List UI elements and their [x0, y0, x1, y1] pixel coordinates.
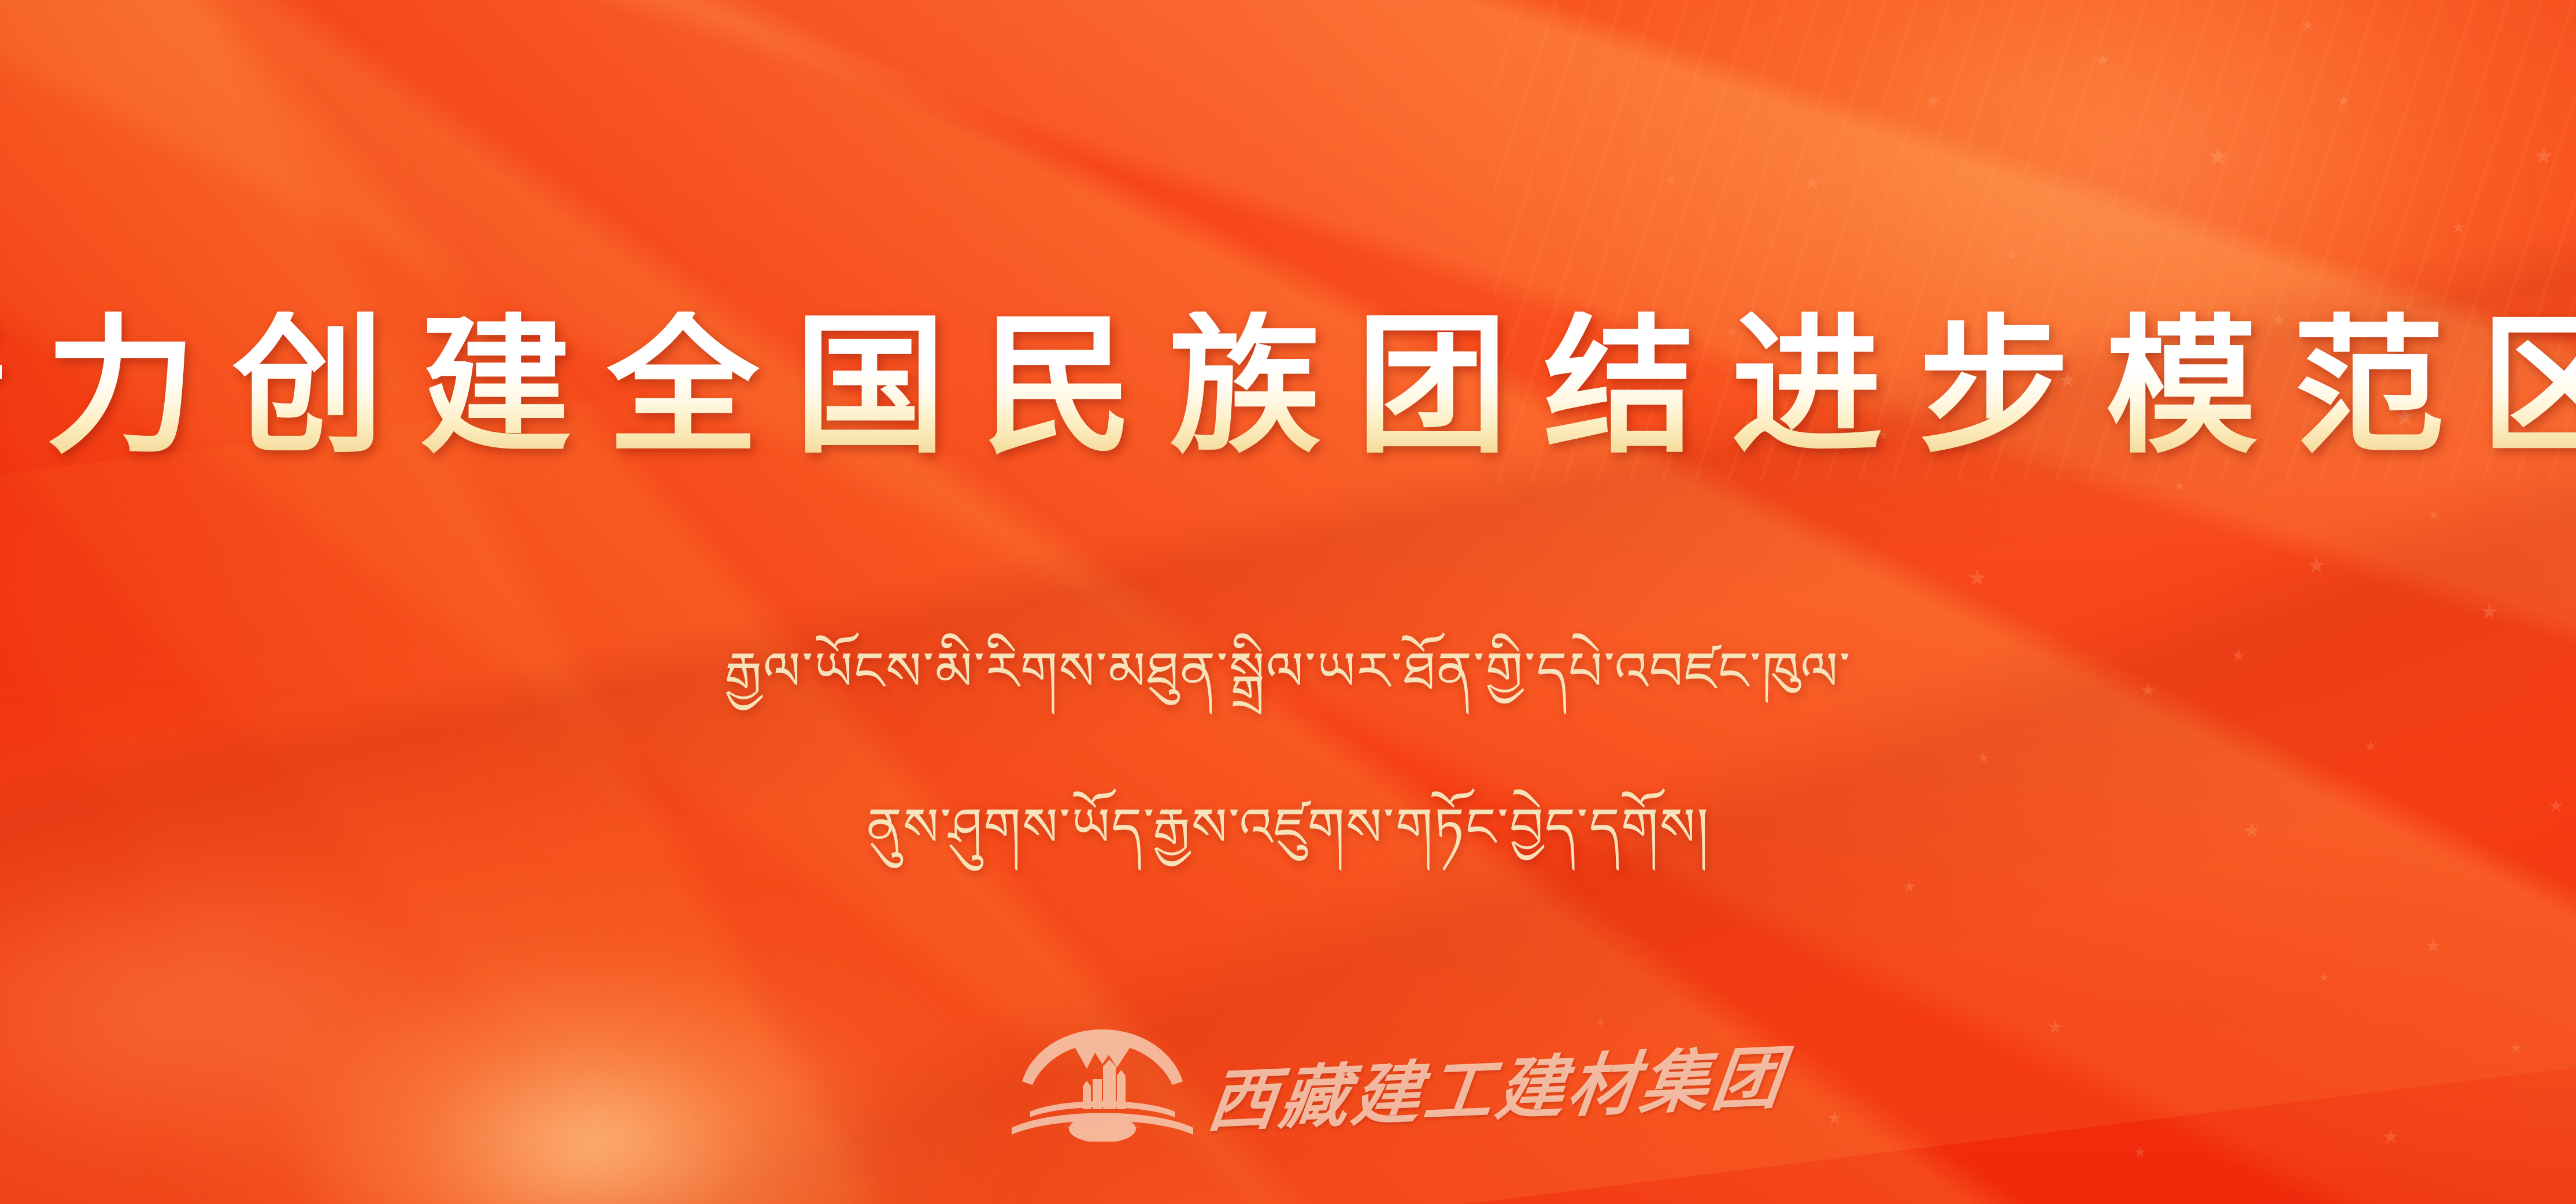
tibetan-line-2-row: ནུས་ཤུགས་ཡོད་རྒྱས་འཛུགས་གཏོང་བྱེད་དགོས།: [0, 781, 2576, 874]
banner-canvas: ★★★★★★★★★★★★★★★★★★★★★★★★★★★★★★★★★★★★ 着力创…: [0, 0, 2576, 1204]
tibetan-slogan-line-1: རྒྱལ་ཡོངས་མི་རིགས་མཐུན་སྒྲིལ་ཡར་ཐོན་གྱི་…: [724, 631, 1851, 713]
headline-slogan: 着力创建全国民族团结进步模范区!: [0, 312, 2576, 463]
headline-row: 着力创建全国民族团结进步模范区!: [0, 301, 2576, 474]
mountain-building-emblem-icon: [1007, 1026, 1198, 1142]
tibetan-line-1-row: རྒྱལ་ཡོངས་མི་རིགས་མཐུན་སྒྲིལ་ཡར་ཐོན་གྱི་…: [0, 625, 2576, 718]
tibetan-slogan-line-2: ནུས་ཤུགས་ཡོད་རྒྱས་འཛུགས་གཏོང་བྱེད་དགོས།: [867, 787, 1710, 869]
company-wordmark: 西藏建工建材集团: [1203, 1022, 1792, 1144]
company-logo: 西藏建工建材集团: [1007, 1024, 1585, 1143]
banner-content: 着力创建全国民族团结进步模范区! རྒྱལ་ཡོངས་མི་རིགས་མཐུན་…: [0, 0, 2576, 1204]
